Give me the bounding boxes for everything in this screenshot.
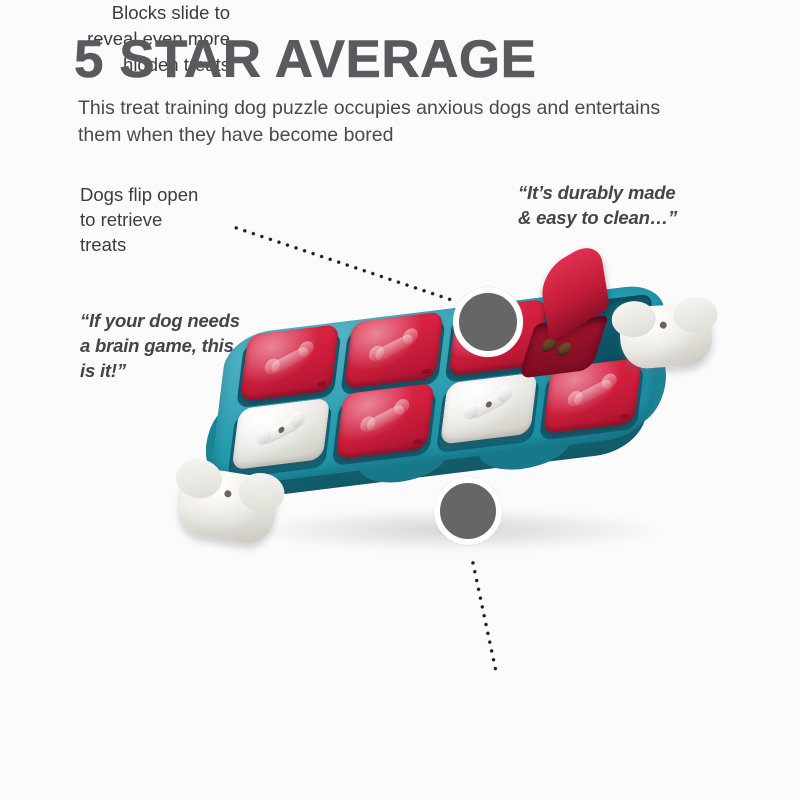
red-sliding-block (335, 382, 434, 459)
callout-line: Blocks slide to (0, 0, 230, 26)
product-image (150, 250, 710, 610)
puzzle-cell (331, 390, 436, 466)
loose-bone-block-right (618, 302, 714, 370)
page-subtitle: This treat training dog puzzle occupies … (78, 95, 678, 149)
callout-line: Dogs flip open (80, 182, 280, 207)
block-nub (620, 413, 630, 419)
block-nub (317, 381, 327, 387)
quote-line: & easy to clean…” (518, 205, 748, 230)
marker-blocks-slide[interactable] (434, 477, 502, 545)
durable-quote: “It’s durably made & easy to clean…” (518, 180, 748, 230)
page-title: 5 STAR AVERAGE (74, 33, 536, 86)
callout-line: to retrieve (80, 207, 280, 232)
puzzle-cell (227, 403, 332, 479)
infographic-canvas: 5 STAR AVERAGE This treat training dog p… (0, 0, 800, 800)
red-sliding-block (344, 311, 443, 388)
white-bone-block (439, 372, 538, 445)
block-nub (421, 368, 431, 374)
marker-flip-open[interactable] (453, 287, 523, 357)
quote-line: “It’s durably made (518, 180, 748, 205)
bone-emboss-icon (573, 378, 613, 409)
quote-line: a brain game, this (80, 333, 310, 358)
block-nub (412, 439, 422, 445)
bone-lobe (673, 295, 720, 334)
puzzle-cell (340, 319, 445, 395)
loose-bone-block-left (175, 465, 280, 547)
white-bone-block (231, 397, 330, 470)
brain-game-quote: “If your dog needs a brain game, this is… (80, 308, 310, 383)
treat (555, 342, 573, 357)
puzzle-cell (435, 377, 540, 453)
bone-emboss-icon (365, 403, 405, 434)
treat (540, 337, 559, 352)
dogs-flip-open-callout: Dogs flip open to retrieve treats (80, 182, 280, 257)
callout-line: treats (80, 232, 280, 257)
puzzle-cell (539, 365, 644, 441)
bone-emboss-icon (374, 332, 414, 363)
quote-line: is it!” (80, 358, 310, 383)
quote-line: “If your dog needs (80, 308, 310, 333)
